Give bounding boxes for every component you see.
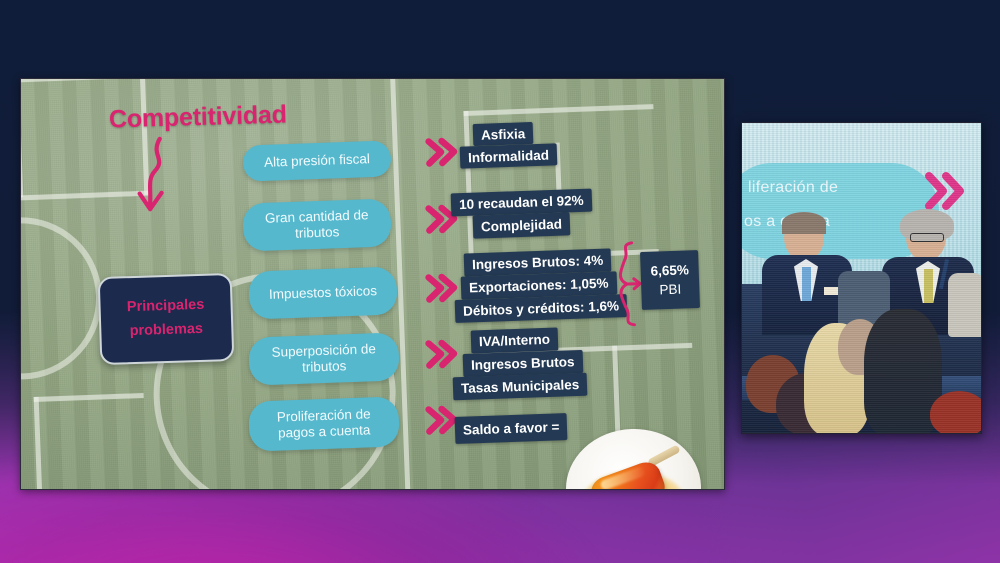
slide-title: Competitividad bbox=[109, 101, 288, 135]
speaker-left-pocket-square bbox=[824, 287, 838, 295]
detail-box-iva-interno: IVA/Interno bbox=[471, 327, 559, 353]
screen-chevron-icon bbox=[923, 171, 967, 211]
presentation-slide: Competitividad Principales problemas Alt… bbox=[20, 78, 725, 490]
speaker-right-tie bbox=[924, 269, 933, 303]
screen: Competitividad Principales problemas Alt… bbox=[0, 0, 1000, 563]
total-badge-unit: PBI bbox=[659, 282, 681, 298]
slide-content: Competitividad Principales problemas Alt… bbox=[21, 79, 724, 489]
detail-box-tasas-municipales: Tasas Municipales bbox=[453, 373, 588, 401]
main-problem-box: Principales problemas bbox=[98, 273, 235, 365]
total-badge-box: 6,65% PBI bbox=[640, 250, 700, 310]
curved-arrow-icon bbox=[120, 134, 193, 218]
detail-box-complejidad: Complejidad bbox=[473, 212, 571, 238]
problem-pill-impuestos-toxicos: Impuestos tóxicos bbox=[248, 266, 398, 319]
total-badge-value: 6,65% bbox=[650, 262, 689, 278]
detail-box-saldo-a-favor: Saldo a favor = bbox=[455, 413, 568, 444]
detail-box-asfixia: Asfixia bbox=[473, 122, 534, 146]
detail-box-recaudan: 10 recaudan el 92% bbox=[451, 189, 592, 217]
picture-in-picture-video[interactable]: liferación de os a cuenta bbox=[741, 122, 982, 434]
detail-box-debitos-creditos: Débitos y créditos: 1,6% bbox=[455, 294, 628, 323]
main-box-line2: problemas bbox=[129, 318, 203, 344]
chevron-icon-group-3 bbox=[424, 272, 459, 303]
problem-pill-proliferacion: Proliferación de pagos a cuenta bbox=[248, 396, 400, 451]
audience-head-6-red bbox=[930, 391, 982, 434]
chevron-icon-group-1 bbox=[424, 136, 459, 167]
problem-pill-alta-presion: Alta presión fiscal bbox=[242, 140, 391, 181]
problem-pill-superposicion: Superposición de tributos bbox=[248, 332, 400, 385]
speaker-right-glasses bbox=[910, 233, 944, 242]
screen-text-line1: liferación de bbox=[748, 177, 838, 199]
melting-popsicle-image bbox=[564, 427, 703, 490]
chair-right bbox=[948, 273, 982, 337]
main-box-line1: Principales bbox=[127, 294, 205, 320]
problem-pill-gran-cantidad: Gran cantidad de tributos bbox=[242, 198, 392, 251]
speaker-left-tie bbox=[802, 267, 811, 301]
detail-box-informalidad: Informalidad bbox=[460, 143, 558, 168]
speaker-left-hair bbox=[782, 212, 826, 234]
chevron-icon-group-4 bbox=[424, 338, 459, 369]
